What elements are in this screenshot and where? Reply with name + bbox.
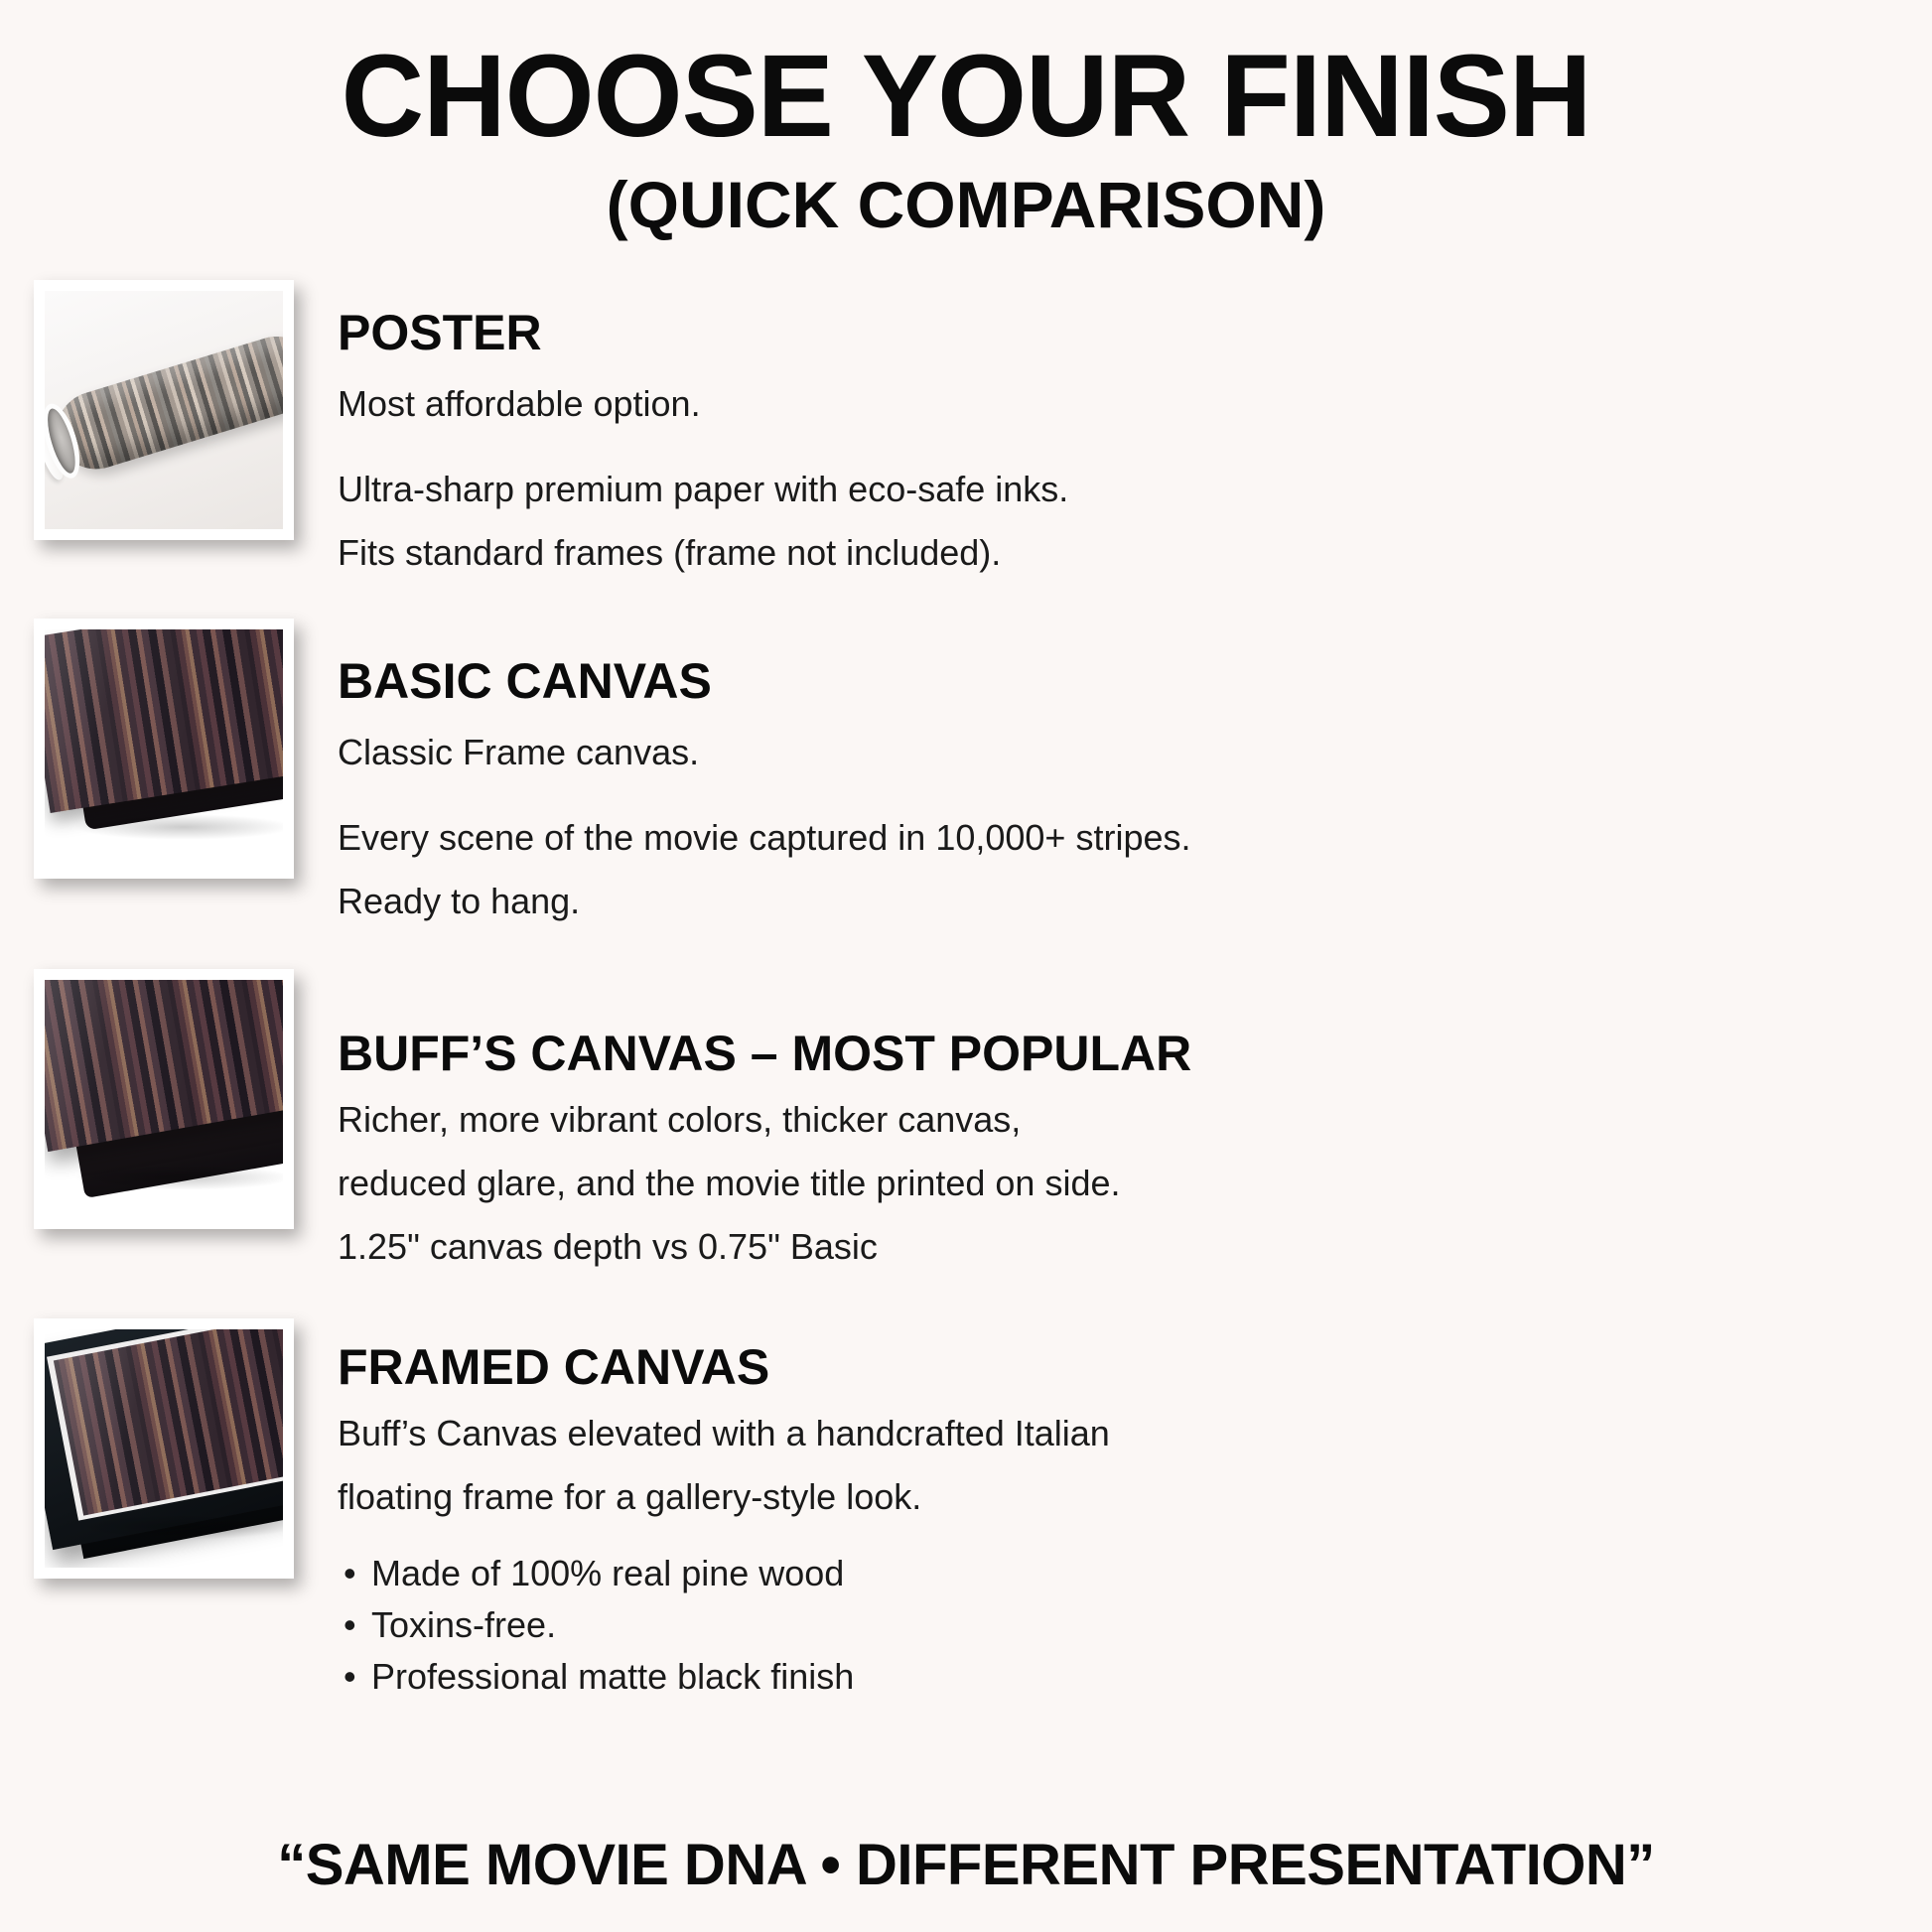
buffs-canvas-detail-line-3: 1.25" canvas depth vs 0.75" Basic [338, 1222, 1872, 1272]
footer-tagline: “SAME MOVIE DNA • DIFFERENT PRESENTATION… [0, 1832, 1932, 1898]
option-row-framed-canvas: FRAMED CANVAS Buff’s Canvas elevated wit… [0, 1318, 1932, 1703]
framed-canvas-content: FRAMED CANVAS Buff’s Canvas elevated wit… [328, 1318, 1932, 1703]
poster-title: POSTER [338, 306, 1872, 360]
page-title: CHOOSE YOUR FINISH [19, 36, 1912, 159]
basic-canvas-lead: Classic Frame canvas. [338, 729, 1872, 777]
buffs-canvas-detail-line-1: Richer, more vibrant colors, thicker can… [338, 1095, 1872, 1145]
basic-canvas-title: BASIC CANVAS [338, 654, 1872, 709]
poster-detail-line-1: Ultra-sharp premium paper with eco-safe … [338, 465, 1872, 514]
framed-canvas-title: FRAMED CANVAS [338, 1340, 1872, 1395]
basic-canvas-thumb-wrap [0, 619, 328, 879]
list-item: Professional matte black finish [338, 1651, 1872, 1703]
framed-canvas-image-card [34, 1318, 294, 1579]
basic-canvas-detail-line-1: Every scene of the movie captured in 10,… [338, 813, 1872, 863]
option-row-buffs-canvas: BUFF’S CANVAS – MOST POPULAR Richer, mor… [0, 969, 1932, 1271]
basic-canvas-backdrop [45, 629, 283, 868]
framed-canvas-thumb-wrap [0, 1318, 328, 1579]
buffs-canvas-backdrop [45, 980, 283, 1218]
basic-canvas-image-card [34, 619, 294, 879]
poster-content: POSTER Most affordable option. Ultra-sha… [328, 280, 1932, 577]
buffs-canvas-image-card [34, 969, 294, 1229]
list-item: Toxins-free. [338, 1599, 1872, 1651]
basic-canvas-detail-line-2: Ready to hang. [338, 877, 1872, 926]
header: CHOOSE YOUR FINISH (QUICK COMPARISON) [0, 0, 1932, 240]
buffs-canvas-content: BUFF’S CANVAS – MOST POPULAR Richer, mor… [328, 969, 1932, 1271]
buffs-canvas-detail-line-2: reduced glare, and the movie title print… [338, 1159, 1872, 1208]
framed-canvas-detail-line-2: floating frame for a gallery-style look. [338, 1472, 1872, 1522]
buffs-canvas-thumb-wrap [0, 969, 328, 1229]
poster-photo [45, 291, 283, 529]
option-row-poster: POSTER Most affordable option. Ultra-sha… [0, 280, 1932, 577]
option-row-basic-canvas: BASIC CANVAS Classic Frame canvas. Every… [0, 619, 1932, 925]
framed-canvas-photo [45, 1329, 283, 1568]
poster-image-card [34, 280, 294, 540]
comparison-list: POSTER Most affordable option. Ultra-sha… [0, 280, 1932, 1703]
buffs-canvas-photo [45, 980, 283, 1218]
framed-canvas-bullet-list: Made of 100% real pine wood Toxins-free.… [338, 1548, 1872, 1704]
poster-thumb-wrap [0, 280, 328, 540]
infographic-page: CHOOSE YOUR FINISH (QUICK COMPARISON) PO [0, 0, 1932, 1932]
buffs-canvas-title: BUFF’S CANVAS – MOST POPULAR [338, 1027, 1872, 1081]
framed-canvas-frame-icon [45, 1329, 283, 1550]
page-subtitle: (QUICK COMPARISON) [0, 169, 1932, 241]
list-item: Made of 100% real pine wood [338, 1548, 1872, 1599]
framed-canvas-backdrop [45, 1329, 283, 1568]
basic-canvas-photo [45, 629, 283, 868]
framed-canvas-detail-line-1: Buff’s Canvas elevated with a handcrafte… [338, 1409, 1872, 1458]
basic-canvas-content: BASIC CANVAS Classic Frame canvas. Every… [328, 619, 1932, 925]
poster-lead: Most affordable option. [338, 380, 1872, 429]
poster-detail-line-2: Fits standard frames (frame not included… [338, 528, 1872, 578]
